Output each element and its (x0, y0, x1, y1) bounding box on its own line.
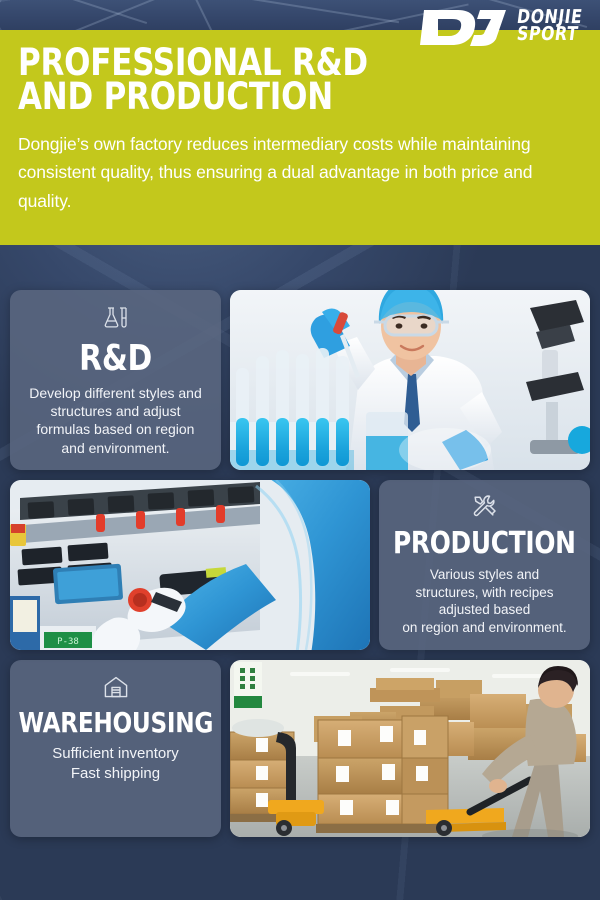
hero-banner: PROFESSIONAL R&D AND PRODUCTION Dongjie’… (0, 30, 600, 245)
tools-icon (472, 494, 498, 523)
brand-logo: DONJIE SPORT (418, 5, 588, 47)
production-line-photo: P-38 (10, 480, 370, 650)
hero-description: Dongjie’s own factory reduces intermedia… (18, 130, 574, 215)
card-production[interactable]: PRODUCTION Various styles and structures… (379, 480, 590, 650)
warehouse-icon (104, 676, 128, 703)
logo-wordmark: DONJIE SPORT (517, 9, 588, 42)
warehouse-photo (230, 660, 590, 837)
card-desc-warehousing: Sufficient inventory Fast shipping (52, 744, 178, 785)
card-title-production: PRODUCTION (393, 529, 576, 559)
row-warehousing: WAREHOUSING Sufficient inventory Fast sh… (0, 660, 600, 837)
card-title-warehousing: WAREHOUSING (18, 709, 213, 737)
dj-monogram-icon (418, 5, 510, 47)
card-desc-rd: Develop different styles and structures … (29, 384, 202, 457)
card-title-rd: R&D (79, 341, 152, 377)
lab-flask-icon (103, 306, 129, 335)
card-desc-production: Various styles and structures, with reci… (402, 566, 566, 636)
hero-title: PROFESSIONAL R&D AND PRODUCTION (18, 42, 543, 115)
row-production: P-38 (0, 480, 600, 650)
card-rd[interactable]: R&D Develop different styles and structu… (10, 290, 221, 470)
lab-scientist-photo (230, 290, 590, 470)
card-warehousing[interactable]: WAREHOUSING Sufficient inventory Fast sh… (10, 660, 221, 837)
row-rd: R&D Develop different styles and structu… (0, 245, 600, 470)
svg-text:P-38: P-38 (57, 637, 79, 647)
feature-grid: R&D Develop different styles and structu… (0, 245, 600, 847)
logo-line2: SPORT (516, 26, 584, 43)
